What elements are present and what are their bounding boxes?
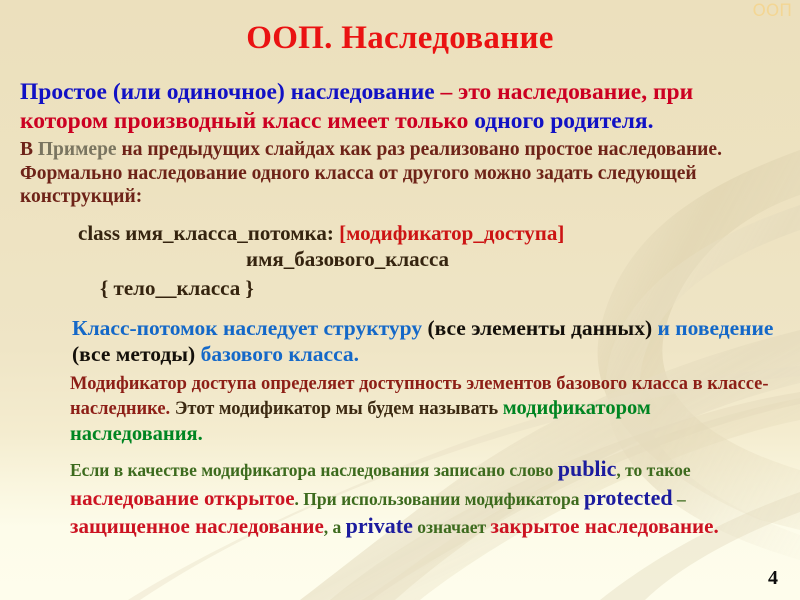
- code-line-3: { тело__класса }: [78, 272, 800, 302]
- code-block: class имя_класса_потомка: [модификатор_д…: [0, 209, 800, 302]
- emphasis-private-inheritance: закрытое наследование.: [491, 514, 719, 538]
- slide-body: Простое (или одиночное) наследование – э…: [0, 78, 800, 541]
- code-line-2: имя_базового_класса: [78, 247, 800, 273]
- access-part-4: –: [673, 489, 686, 509]
- code-line-1-prefix: class имя_класса_потомка:: [78, 221, 339, 245]
- inherit-paragraph: Класс-потомок наследует структуру (все э…: [0, 302, 800, 368]
- access-part-3: . При использовании модификатора: [295, 489, 584, 509]
- note-part-3: на предыдущих слайдах как раз реализован…: [20, 139, 722, 207]
- note-gray-word: Примере: [38, 139, 117, 160]
- keyword-private: private: [346, 513, 413, 538]
- inherit-part-4: (все методы): [72, 342, 195, 366]
- slide-canvas: ООП ООП. Наследование Простое (или одино…: [0, 0, 800, 600]
- emphasis-open-inheritance: наследование открытое: [70, 486, 295, 510]
- modifier-part-2: Этот модификатор мы будем называть: [175, 399, 503, 419]
- inherit-part-5: базового класса.: [195, 342, 359, 366]
- access-part-1: Если в качестве модификатора наследовани…: [70, 460, 558, 480]
- corner-watermark: ООП: [752, 1, 792, 21]
- note-part-1: В: [20, 139, 38, 160]
- access-part-5: , а: [324, 517, 346, 537]
- inherit-part-3: и поведение: [652, 316, 773, 340]
- code-line-1-bracketed: [модификатор_доступа]: [339, 221, 564, 245]
- code-line-1: class имя_класса_потомка: [модификатор_д…: [78, 221, 800, 247]
- access-paragraph: Если в качестве модификатора наследовани…: [0, 447, 800, 541]
- lead-part-1: Простое (или одиночное) наследование: [20, 79, 435, 105]
- lead-paragraph: Простое (или одиночное) наследование – э…: [0, 78, 800, 136]
- inherit-part-1: Класс-потомок наследует структуру: [72, 316, 427, 340]
- slide-title: ООП. Наследование: [0, 20, 800, 57]
- keyword-protected: protected: [584, 485, 673, 510]
- lead-part-3: одного родителя.: [474, 108, 653, 134]
- modifier-paragraph: Модификатор доступа определяет доступнос…: [0, 367, 800, 447]
- page-number: 4: [768, 567, 778, 590]
- note-paragraph: В Примере на предыдущих слайдах как раз …: [0, 136, 800, 209]
- access-part-6: означает: [413, 517, 491, 537]
- access-part-2: , то такое: [616, 460, 690, 480]
- emphasis-protected-inheritance: защищенное наследование: [70, 514, 324, 538]
- keyword-public: public: [558, 456, 617, 481]
- inherit-part-2: (все элементы данных): [427, 316, 652, 340]
